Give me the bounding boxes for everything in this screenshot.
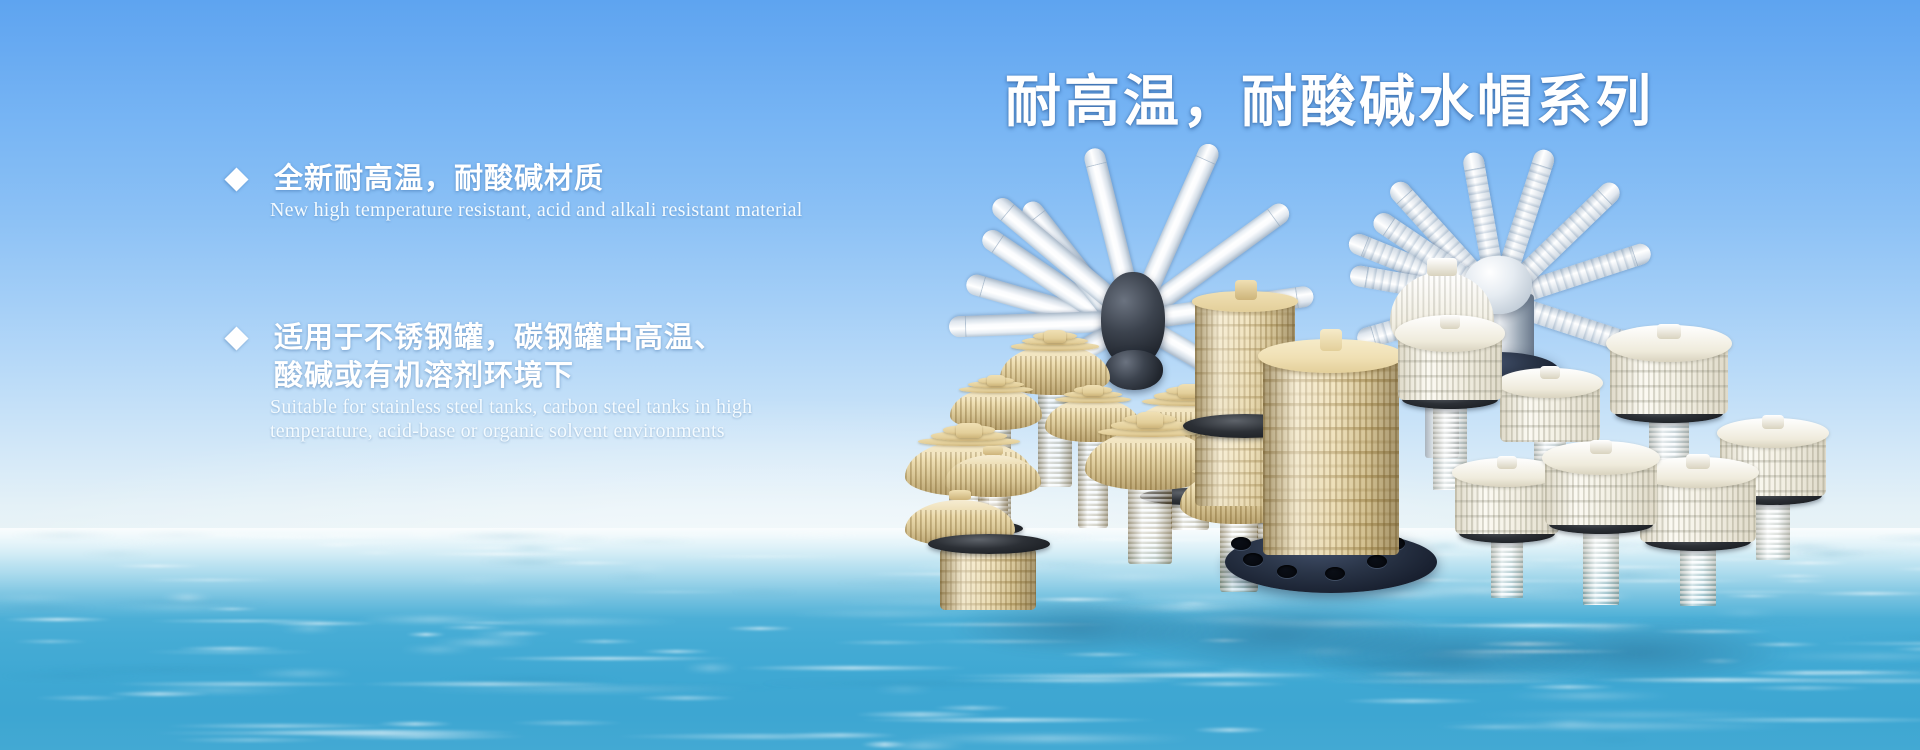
water-cap-knob <box>956 423 982 438</box>
cream-filter-cap <box>1545 455 1657 611</box>
filter-cap-knob <box>1590 440 1612 454</box>
feature-2-en-line-1: Suitable for stainless steel tanks, carb… <box>270 396 942 420</box>
cylinder-knob <box>1320 329 1342 351</box>
water-cap-knob <box>1083 385 1102 396</box>
feature-item-2: 适用于不锈钢罐，碳钢罐中高温、 酸碱或有机溶剂环境下 Suitable for … <box>222 319 942 444</box>
water-cap-knob <box>987 375 1005 386</box>
feature-item-1: 全新耐高温，耐酸碱材质 New high temperature resista… <box>222 160 942 223</box>
feature-2-title-en: Suitable for stainless steel tanks, carb… <box>270 396 942 443</box>
filter-cap-knob <box>1686 454 1709 468</box>
water-cap-knob <box>1044 330 1066 343</box>
cylinder-knob <box>1235 280 1257 300</box>
filter-cap-knob <box>1657 324 1681 339</box>
filter-cap-knob <box>1440 315 1461 329</box>
feature-1-en-line-1: New high temperature resistant, acid and… <box>270 199 942 223</box>
flange-bolt-hole <box>1243 553 1263 566</box>
water-cap-stem <box>1128 484 1172 564</box>
feature-2-cn-line-1: 适用于不锈钢罐，碳钢罐中高温、 <box>274 319 942 357</box>
water-cap-knob <box>949 490 971 500</box>
large-filter-cylinder <box>1263 355 1399 555</box>
rubber-gasket <box>928 534 1050 554</box>
cream-filter-cap <box>1455 470 1559 604</box>
diamond-bullet-icon <box>224 167 248 191</box>
drum-shading <box>940 548 1036 610</box>
flange-bolt-hole <box>1367 555 1387 568</box>
filter-cap-knob <box>1762 415 1783 428</box>
product-shadow <box>1490 620 1790 684</box>
flange-bolt-hole <box>1325 567 1345 580</box>
flange-bolt-hole <box>1231 537 1251 550</box>
cylinder-shading <box>1263 355 1399 555</box>
filter-cap-knob <box>1540 366 1560 378</box>
strainer-hub-lower <box>1105 350 1163 390</box>
feature-2-en-line-2: temperature, acid-base or organic solven… <box>270 420 942 444</box>
diamond-bullet-icon <box>224 326 248 350</box>
ribbed-drum <box>940 548 1036 610</box>
cream-filter-cap <box>1640 470 1756 612</box>
feature-1-title-cn: 全新耐高温，耐酸碱材质 <box>274 160 942 198</box>
feature-2-title-cn: 适用于不锈钢罐，碳钢罐中高温、 酸碱或有机溶剂环境下 <box>274 319 942 396</box>
water-cap-knob <box>1137 412 1163 428</box>
flange-bolt-hole <box>1277 565 1297 578</box>
water-cap-knob <box>983 446 1002 455</box>
dome-strainer-nut <box>1427 258 1456 276</box>
page-title: 耐高温，耐酸碱水帽系列 <box>1005 57 1654 138</box>
filter-cap-knob <box>1497 456 1518 469</box>
feature-2-cn-line-2: 酸碱或有机溶剂环境下 <box>274 357 942 395</box>
product-banner: 耐高温，耐酸碱水帽系列 全新耐高温，耐酸碱材质 New high tempera… <box>0 0 1920 750</box>
stem-shading <box>1128 484 1172 564</box>
feature-list: 全新耐高温，耐酸碱材质 New high temperature resista… <box>222 160 942 540</box>
feature-1-title-en: New high temperature resistant, acid and… <box>270 199 942 223</box>
